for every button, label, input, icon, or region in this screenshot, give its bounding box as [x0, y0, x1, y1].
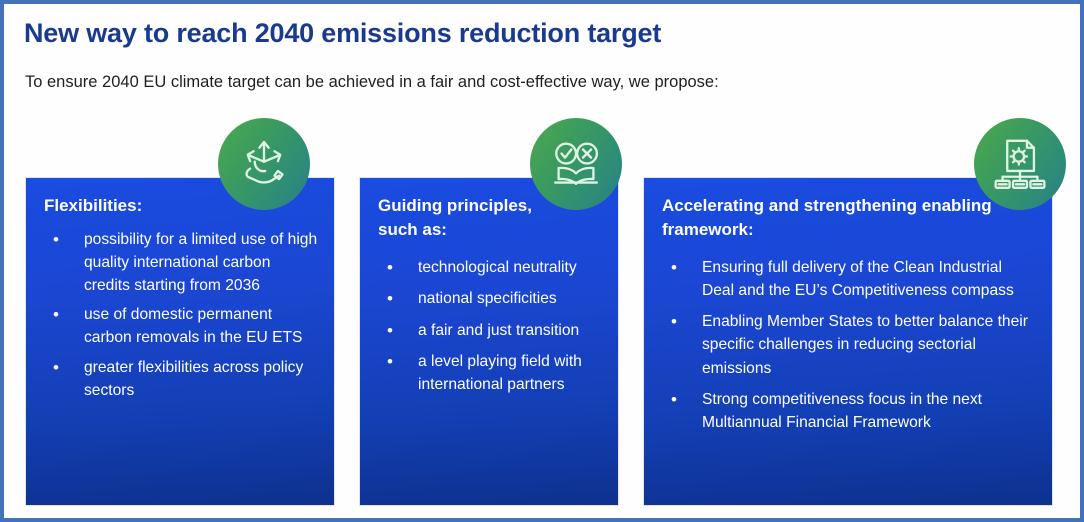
card-bullet-list: • Ensuring full delivery of the Clean In…: [662, 256, 1038, 434]
list-item: • use of domestic permanent carbon remov…: [44, 303, 320, 349]
flexibility-arrows-hand-glyph: [235, 135, 293, 193]
list-item: • Ensuring full delivery of the Clean In…: [662, 256, 1038, 302]
bullet-icon: •: [44, 303, 84, 327]
list-item: • a fair and just transition: [378, 319, 604, 343]
card-bullet-list: • possibility for a limited use of high …: [44, 228, 320, 402]
list-item: • Strong competitiveness focus in the ne…: [662, 388, 1038, 434]
bullet-icon: •: [378, 350, 418, 374]
list-item: • national specificities: [378, 287, 604, 311]
bullet-icon: •: [378, 256, 418, 280]
bullet-label: technological neutrality: [418, 256, 604, 279]
bullet-icon: •: [662, 310, 702, 334]
bullet-label: a level playing field with international…: [418, 350, 604, 396]
book-check-cross-glyph: [547, 135, 605, 193]
bullet-icon: •: [44, 228, 84, 252]
list-item: • technological neutrality: [378, 256, 604, 280]
card-heading: Accelerating and strengthening enabling …: [662, 194, 1038, 242]
book-check-cross-icon: [530, 118, 622, 210]
card-bullet-list: • technological neutrality • national sp…: [378, 256, 604, 396]
slide-container: New way to reach 2040 emissions reductio…: [0, 0, 1084, 522]
list-item: • possibility for a limited use of high …: [44, 228, 320, 297]
bullet-icon: •: [44, 356, 84, 380]
bullet-icon: •: [378, 319, 418, 343]
card-guiding-principles: Guiding principles, such as: • technolog…: [360, 178, 618, 505]
slide-content: New way to reach 2040 emissions reductio…: [4, 4, 1080, 518]
bullet-icon: •: [662, 388, 702, 412]
card-flexibilities: Flexibilities: • possibility for a limit…: [26, 178, 334, 505]
bullet-label: a fair and just transition: [418, 319, 604, 342]
list-item: • Enabling Member States to better balan…: [662, 310, 1038, 379]
bullet-icon: •: [662, 256, 702, 280]
bullet-label: national specificities: [418, 287, 604, 310]
bullet-label: Enabling Member States to better balance…: [702, 310, 1038, 379]
bullet-label: Ensuring full delivery of the Clean Indu…: [702, 256, 1038, 302]
bullet-label: Strong competitiveness focus in the next…: [702, 388, 1038, 434]
card-enabling-framework: Accelerating and strengthening enabling …: [644, 178, 1052, 505]
list-item: • greater flexibilities across policy se…: [44, 356, 320, 402]
bullet-label: use of domestic permanent carbon removal…: [84, 303, 320, 349]
bullet-label: possibility for a limited use of high qu…: [84, 228, 320, 297]
bullet-icon: •: [378, 287, 418, 311]
bullet-label: greater flexibilities across policy sect…: [84, 356, 320, 402]
document-gear-org-chart-icon: [974, 118, 1066, 210]
cards-row: Flexibilities: • possibility for a limit…: [4, 4, 1080, 518]
document-gear-org-chart-glyph: [991, 135, 1049, 193]
list-item: • a level playing field with internation…: [378, 350, 604, 396]
flexibility-arrows-hand-icon: [218, 118, 310, 210]
